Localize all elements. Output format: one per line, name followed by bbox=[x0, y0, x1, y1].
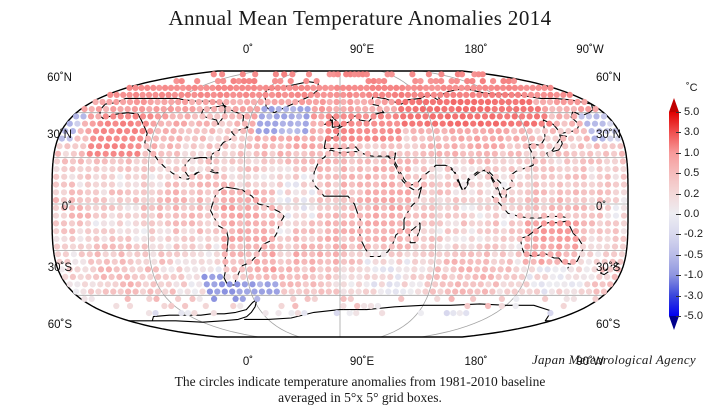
anomaly-dot bbox=[416, 99, 422, 105]
anomaly-dot bbox=[152, 310, 158, 316]
anomaly-dot bbox=[378, 113, 384, 119]
anomaly-dot bbox=[157, 182, 163, 188]
anomaly-dot bbox=[571, 106, 577, 112]
anomaly-dot bbox=[162, 289, 168, 295]
anomaly-dot bbox=[285, 189, 291, 195]
anomaly-dot bbox=[255, 136, 261, 142]
anomaly-dot bbox=[222, 289, 228, 295]
anomaly-dot bbox=[397, 166, 403, 172]
anomaly-dot bbox=[333, 220, 339, 226]
anomaly-dot bbox=[214, 143, 220, 149]
anomaly-dot bbox=[334, 310, 340, 316]
anomaly-dot bbox=[256, 128, 262, 134]
anomaly-dot bbox=[347, 92, 353, 98]
anomaly-dot bbox=[375, 85, 381, 91]
anomaly-dot bbox=[254, 151, 260, 157]
anomaly-dot bbox=[404, 151, 410, 157]
anomaly-dot bbox=[501, 213, 507, 219]
anomaly-dot bbox=[405, 189, 411, 195]
anomaly-dot bbox=[484, 151, 490, 157]
anomaly-dot bbox=[421, 244, 427, 250]
anomaly-dot bbox=[293, 197, 299, 203]
anomaly-dot bbox=[496, 128, 502, 134]
anomaly-dot bbox=[207, 289, 213, 295]
anomaly-dot bbox=[69, 182, 75, 188]
anomaly-dot bbox=[589, 182, 595, 188]
anomaly-dot bbox=[588, 158, 594, 164]
anomaly-dot bbox=[109, 205, 115, 211]
anomaly-dot bbox=[532, 251, 538, 257]
anomaly-dot bbox=[73, 289, 79, 295]
anomaly-dot bbox=[460, 151, 466, 157]
anomaly-dot bbox=[397, 220, 403, 226]
anomaly-dot bbox=[541, 85, 547, 91]
anomaly-dot bbox=[294, 128, 300, 134]
anomaly-dot bbox=[80, 289, 86, 295]
anomaly-dot bbox=[69, 189, 75, 195]
anomaly-dot bbox=[93, 189, 99, 195]
anomaly-dot bbox=[492, 106, 498, 112]
anomaly-dot bbox=[436, 143, 442, 149]
anomaly-dot bbox=[356, 113, 362, 119]
anomaly-dot bbox=[253, 236, 259, 242]
anomaly-dot bbox=[93, 128, 99, 134]
anomaly-dot bbox=[470, 296, 476, 302]
anomaly-dot bbox=[555, 151, 561, 157]
anomaly-dot bbox=[80, 259, 86, 265]
anomaly-dot bbox=[285, 220, 291, 226]
anomaly-dot bbox=[53, 220, 59, 226]
anomaly-dot bbox=[201, 274, 207, 280]
anomaly-dot bbox=[317, 189, 323, 195]
anomaly-dot bbox=[64, 143, 70, 149]
anomaly-dot bbox=[261, 251, 267, 257]
anomaly-dot bbox=[263, 310, 269, 316]
anomaly-dot bbox=[363, 289, 369, 295]
anomaly-dot bbox=[118, 151, 124, 157]
anomaly-dot bbox=[125, 197, 131, 203]
anomaly-dot bbox=[605, 182, 611, 188]
caption-line-1: The circles indicate temperature anomali… bbox=[0, 374, 720, 390]
anomaly-dot bbox=[205, 213, 211, 219]
anomaly-dot bbox=[132, 85, 138, 91]
anomaly-dot bbox=[489, 92, 495, 98]
anomaly-dot bbox=[245, 236, 251, 242]
anomaly-dot bbox=[204, 281, 210, 287]
colorbar-unit: ˚C bbox=[686, 82, 698, 94]
anomaly-dot bbox=[380, 274, 386, 280]
anomaly-dot bbox=[604, 274, 610, 280]
anomaly-dot bbox=[280, 281, 286, 287]
anomaly-dot bbox=[117, 220, 123, 226]
anomaly-dot bbox=[475, 259, 481, 265]
anomaly-dot bbox=[137, 266, 143, 272]
anomaly-dot bbox=[161, 99, 167, 105]
anomaly-dot bbox=[166, 121, 172, 127]
anomaly-dot bbox=[237, 289, 243, 295]
anomaly-dot bbox=[613, 220, 619, 226]
anomaly-dot bbox=[147, 289, 153, 295]
anomaly-dot bbox=[245, 166, 251, 172]
anomaly-dot bbox=[578, 106, 584, 112]
anomaly-dot bbox=[426, 274, 432, 280]
anomaly-dot bbox=[593, 113, 599, 119]
anomaly-dot bbox=[213, 205, 219, 211]
anomaly-dot bbox=[596, 158, 602, 164]
anomaly-dot bbox=[365, 151, 371, 157]
anomaly-dot bbox=[477, 189, 483, 195]
anomaly-dot bbox=[451, 99, 457, 105]
anomaly-dot bbox=[333, 236, 339, 242]
anomaly-dot bbox=[190, 151, 196, 157]
anomaly-dot bbox=[381, 197, 387, 203]
anomaly-dot bbox=[445, 213, 451, 219]
anomaly-dot bbox=[621, 228, 627, 234]
anomaly-dot bbox=[317, 220, 323, 226]
anomaly-dot bbox=[101, 174, 107, 180]
anomaly-dot bbox=[485, 228, 491, 234]
anomaly-dot bbox=[404, 143, 410, 149]
anomaly-dot bbox=[455, 121, 461, 127]
anomaly-dot bbox=[517, 174, 523, 180]
anomaly-dot bbox=[213, 220, 219, 226]
anomaly-dot bbox=[392, 92, 398, 98]
anomaly-dot bbox=[251, 85, 257, 91]
anomaly-dot bbox=[556, 244, 562, 250]
anomaly-dot bbox=[199, 143, 205, 149]
anomaly-dot bbox=[293, 151, 299, 157]
anomaly-dot bbox=[125, 220, 131, 226]
anomaly-dot bbox=[219, 71, 225, 77]
anomaly-dot bbox=[298, 85, 304, 91]
anomaly-dot bbox=[547, 92, 553, 98]
anomaly-dot bbox=[444, 259, 450, 265]
anomaly-dot bbox=[126, 244, 132, 250]
anomaly-dot bbox=[589, 128, 595, 134]
anomaly-dot bbox=[257, 121, 263, 127]
anomaly-dot bbox=[277, 151, 283, 157]
anomaly-dot bbox=[277, 236, 283, 242]
anomaly-dot bbox=[474, 136, 480, 142]
anomaly-dot bbox=[149, 174, 155, 180]
anomaly-dot bbox=[513, 136, 519, 142]
anomaly-dot bbox=[118, 251, 124, 257]
lon-label-3-top: 90˚W bbox=[576, 44, 603, 56]
anomaly-dot bbox=[464, 303, 470, 309]
anomaly-dot bbox=[255, 266, 261, 272]
anomaly-dot bbox=[253, 244, 259, 250]
anomaly-dot bbox=[205, 189, 211, 195]
anomaly-dot bbox=[429, 174, 435, 180]
anomaly-dot bbox=[173, 189, 179, 195]
anomaly-dot bbox=[480, 274, 486, 280]
anomaly-dot bbox=[101, 228, 107, 234]
anomaly-dot bbox=[112, 281, 118, 287]
anomaly-dot bbox=[357, 158, 363, 164]
anomaly-dot bbox=[141, 228, 147, 234]
anomaly-dot bbox=[507, 259, 513, 265]
anomaly-dot bbox=[357, 197, 363, 203]
anomaly-dot bbox=[520, 106, 526, 112]
anomaly-dot bbox=[423, 85, 429, 91]
anomaly-dot bbox=[434, 128, 440, 134]
anomaly-dot bbox=[557, 197, 563, 203]
anomaly-dot bbox=[554, 281, 560, 287]
anomaly-dot bbox=[441, 106, 447, 112]
anomaly-dot bbox=[585, 106, 591, 112]
anomaly-dot bbox=[549, 236, 555, 242]
anomaly-dot bbox=[277, 174, 283, 180]
anomaly-dot bbox=[269, 158, 275, 164]
anomaly-dot bbox=[110, 244, 116, 250]
anomaly-dot bbox=[504, 289, 510, 295]
anomaly-dot bbox=[184, 266, 190, 272]
colorbar-tick-label: 0.5 bbox=[684, 167, 699, 179]
anomaly-dot bbox=[348, 289, 354, 295]
anomaly-dot bbox=[422, 113, 428, 119]
anomaly-dot bbox=[432, 121, 438, 127]
anomaly-dot bbox=[455, 281, 461, 287]
anomaly-dot bbox=[61, 182, 67, 188]
anomaly-dot bbox=[265, 281, 271, 287]
anomaly-dot bbox=[205, 220, 211, 226]
anomaly-dot bbox=[404, 136, 410, 142]
anomaly-dot bbox=[405, 85, 411, 91]
anomaly-dot bbox=[558, 274, 564, 280]
anomaly-dot bbox=[524, 85, 530, 91]
anomaly-dot bbox=[327, 92, 333, 98]
anomaly-dot bbox=[128, 121, 134, 127]
anomaly-dot bbox=[541, 220, 547, 226]
colorbar-tick-mark bbox=[676, 194, 681, 195]
anomaly-dot bbox=[422, 289, 428, 295]
anomaly-dot bbox=[301, 251, 307, 257]
anomaly-dot bbox=[263, 274, 269, 280]
anomaly-dot bbox=[186, 128, 192, 134]
anomaly-dot bbox=[397, 236, 403, 242]
anomaly-dot bbox=[477, 166, 483, 172]
anomaly-dot bbox=[142, 244, 148, 250]
anomaly-dot bbox=[594, 143, 600, 149]
anomaly-dot bbox=[476, 85, 482, 91]
anomaly-dot bbox=[90, 266, 96, 272]
anomaly-dot bbox=[501, 182, 507, 188]
anomaly-dot bbox=[341, 205, 347, 211]
anomaly-dot bbox=[229, 236, 235, 242]
anomaly-dot bbox=[381, 220, 387, 226]
anomaly-dot bbox=[347, 99, 353, 105]
anomaly-dot bbox=[385, 113, 391, 119]
anomaly-dot bbox=[302, 136, 308, 142]
anomaly-dot bbox=[279, 128, 285, 134]
anomaly-dot bbox=[316, 85, 322, 91]
anomaly-dot bbox=[317, 182, 323, 188]
anomaly-dot bbox=[133, 205, 139, 211]
anomaly-dot bbox=[357, 220, 363, 226]
anomaly-dot bbox=[277, 228, 283, 234]
anomaly-dot bbox=[240, 106, 246, 112]
anomaly-dot bbox=[405, 236, 411, 242]
anomaly-dot bbox=[141, 166, 147, 172]
anomaly-dot bbox=[397, 189, 403, 195]
anomaly-dot bbox=[601, 289, 607, 295]
anomaly-dot bbox=[206, 251, 212, 257]
anomaly-dot bbox=[101, 197, 107, 203]
anomaly-dot bbox=[159, 259, 165, 265]
anomaly-dot bbox=[380, 128, 386, 134]
anomaly-dot bbox=[286, 143, 292, 149]
anomaly-dot bbox=[540, 99, 546, 105]
anomaly-dot bbox=[205, 228, 211, 234]
anomaly-dot bbox=[576, 136, 582, 142]
anomaly-dot bbox=[149, 197, 155, 203]
anomaly-dot bbox=[197, 205, 203, 211]
anomaly-dot bbox=[516, 281, 522, 287]
anomaly-dot bbox=[535, 106, 541, 112]
anomaly-dot bbox=[269, 189, 275, 195]
anomaly-dot bbox=[463, 106, 469, 112]
anomaly-dot bbox=[565, 197, 571, 203]
anomaly-dot bbox=[333, 205, 339, 211]
anomaly-dot bbox=[254, 259, 260, 265]
anomaly-dot bbox=[365, 182, 371, 188]
anomaly-dot bbox=[93, 166, 99, 172]
anomaly-dot bbox=[147, 274, 153, 280]
anomaly-dot bbox=[101, 213, 107, 219]
anomaly-dot bbox=[357, 259, 363, 265]
anomaly-dot bbox=[373, 228, 379, 234]
anomaly-dot bbox=[182, 106, 188, 112]
anomaly-dot bbox=[484, 106, 490, 112]
anomaly-dot bbox=[155, 128, 161, 134]
anomaly-dot bbox=[174, 158, 180, 164]
anomaly-dot bbox=[285, 158, 291, 164]
anomaly-dot bbox=[449, 106, 455, 112]
anomaly-dot bbox=[96, 143, 102, 149]
anomaly-dot bbox=[124, 274, 130, 280]
anomaly-dot bbox=[254, 106, 260, 112]
anomaly-dot bbox=[101, 236, 107, 242]
anomaly-dot bbox=[565, 174, 571, 180]
anomaly-dot bbox=[364, 121, 370, 127]
anomaly-dot bbox=[458, 85, 464, 91]
anomaly-dot bbox=[563, 251, 569, 257]
anomaly-dot bbox=[132, 274, 138, 280]
anomaly-dot bbox=[179, 78, 185, 84]
anomaly-dot bbox=[405, 228, 411, 234]
anomaly-dot bbox=[476, 158, 482, 164]
anomaly-dot bbox=[205, 236, 211, 242]
anomaly-dot bbox=[333, 244, 339, 250]
anomaly-dot bbox=[135, 281, 141, 287]
anomaly-dot bbox=[155, 289, 161, 295]
lat-label-left-1: 30˚N bbox=[20, 129, 72, 141]
anomaly-dot bbox=[93, 228, 99, 234]
anomaly-dot bbox=[182, 158, 188, 164]
anomaly-dot bbox=[533, 182, 539, 188]
anomaly-dot bbox=[621, 189, 627, 195]
anomaly-dot bbox=[301, 205, 307, 211]
anomaly-dot bbox=[505, 266, 511, 272]
anomaly-dot bbox=[170, 289, 176, 295]
anomaly-dot bbox=[221, 228, 227, 234]
anomaly-dot bbox=[444, 310, 450, 316]
anomaly-dot bbox=[114, 266, 120, 272]
anomaly-dot bbox=[437, 220, 443, 226]
anomaly-dot bbox=[468, 244, 474, 250]
anomaly-dot bbox=[182, 303, 188, 309]
anomaly-dot bbox=[74, 136, 80, 142]
anomaly-dot bbox=[493, 197, 499, 203]
anomaly-dot bbox=[517, 220, 523, 226]
anomaly-dot bbox=[557, 189, 563, 195]
anomaly-dot bbox=[525, 197, 531, 203]
anomaly-dot bbox=[325, 151, 331, 157]
anomaly-dot bbox=[158, 151, 164, 157]
anomaly-dot bbox=[450, 92, 456, 98]
anomaly-dot bbox=[333, 121, 339, 127]
anomaly-dot bbox=[356, 121, 362, 127]
anomaly-dot bbox=[469, 182, 475, 188]
anomaly-dot bbox=[557, 205, 563, 211]
anomaly-dot bbox=[118, 158, 124, 164]
anomaly-dot bbox=[223, 136, 229, 142]
anomaly-dot bbox=[364, 71, 370, 77]
anomaly-dot bbox=[389, 236, 395, 242]
anomaly-dot bbox=[318, 274, 324, 280]
anomaly-dot bbox=[189, 205, 195, 211]
anomaly-dot bbox=[437, 189, 443, 195]
anomaly-dot bbox=[424, 121, 430, 127]
anomaly-dot bbox=[460, 251, 466, 257]
anomaly-dot bbox=[452, 289, 458, 295]
anomaly-dot bbox=[90, 281, 96, 287]
anomaly-dot bbox=[205, 205, 211, 211]
anomaly-dot bbox=[489, 113, 495, 119]
anomaly-dot bbox=[429, 158, 435, 164]
anomaly-dot bbox=[213, 213, 219, 219]
anomaly-dot bbox=[224, 92, 230, 98]
anomaly-dot bbox=[325, 197, 331, 203]
anomaly-dot bbox=[306, 71, 312, 77]
anomaly-dot bbox=[525, 174, 531, 180]
anomaly-dot bbox=[168, 106, 174, 112]
anomaly-dot bbox=[381, 213, 387, 219]
anomaly-dot bbox=[492, 158, 498, 164]
anomaly-dot bbox=[587, 151, 593, 157]
anomaly-dot bbox=[240, 71, 246, 77]
anomaly-dot bbox=[340, 303, 346, 309]
anomaly-dot bbox=[381, 174, 387, 180]
anomaly-dot bbox=[113, 303, 119, 309]
anomaly-dot bbox=[405, 197, 411, 203]
anomaly-dot bbox=[534, 113, 540, 119]
anomaly-dot bbox=[581, 274, 587, 280]
anomaly-dot bbox=[157, 197, 163, 203]
anomaly-dot bbox=[349, 174, 355, 180]
anomaly-dot bbox=[173, 197, 179, 203]
anomaly-dot bbox=[173, 182, 179, 188]
colorbar-tick-label: -0.2 bbox=[684, 228, 703, 240]
anomaly-dot bbox=[524, 151, 530, 157]
anomaly-dot bbox=[340, 92, 346, 98]
anomaly-dot bbox=[444, 151, 450, 157]
anomaly-dot bbox=[125, 228, 131, 234]
anomaly-dot bbox=[560, 266, 566, 272]
anomaly-dot bbox=[581, 128, 587, 134]
anomaly-dot bbox=[541, 236, 547, 242]
anomaly-dot bbox=[613, 166, 619, 172]
